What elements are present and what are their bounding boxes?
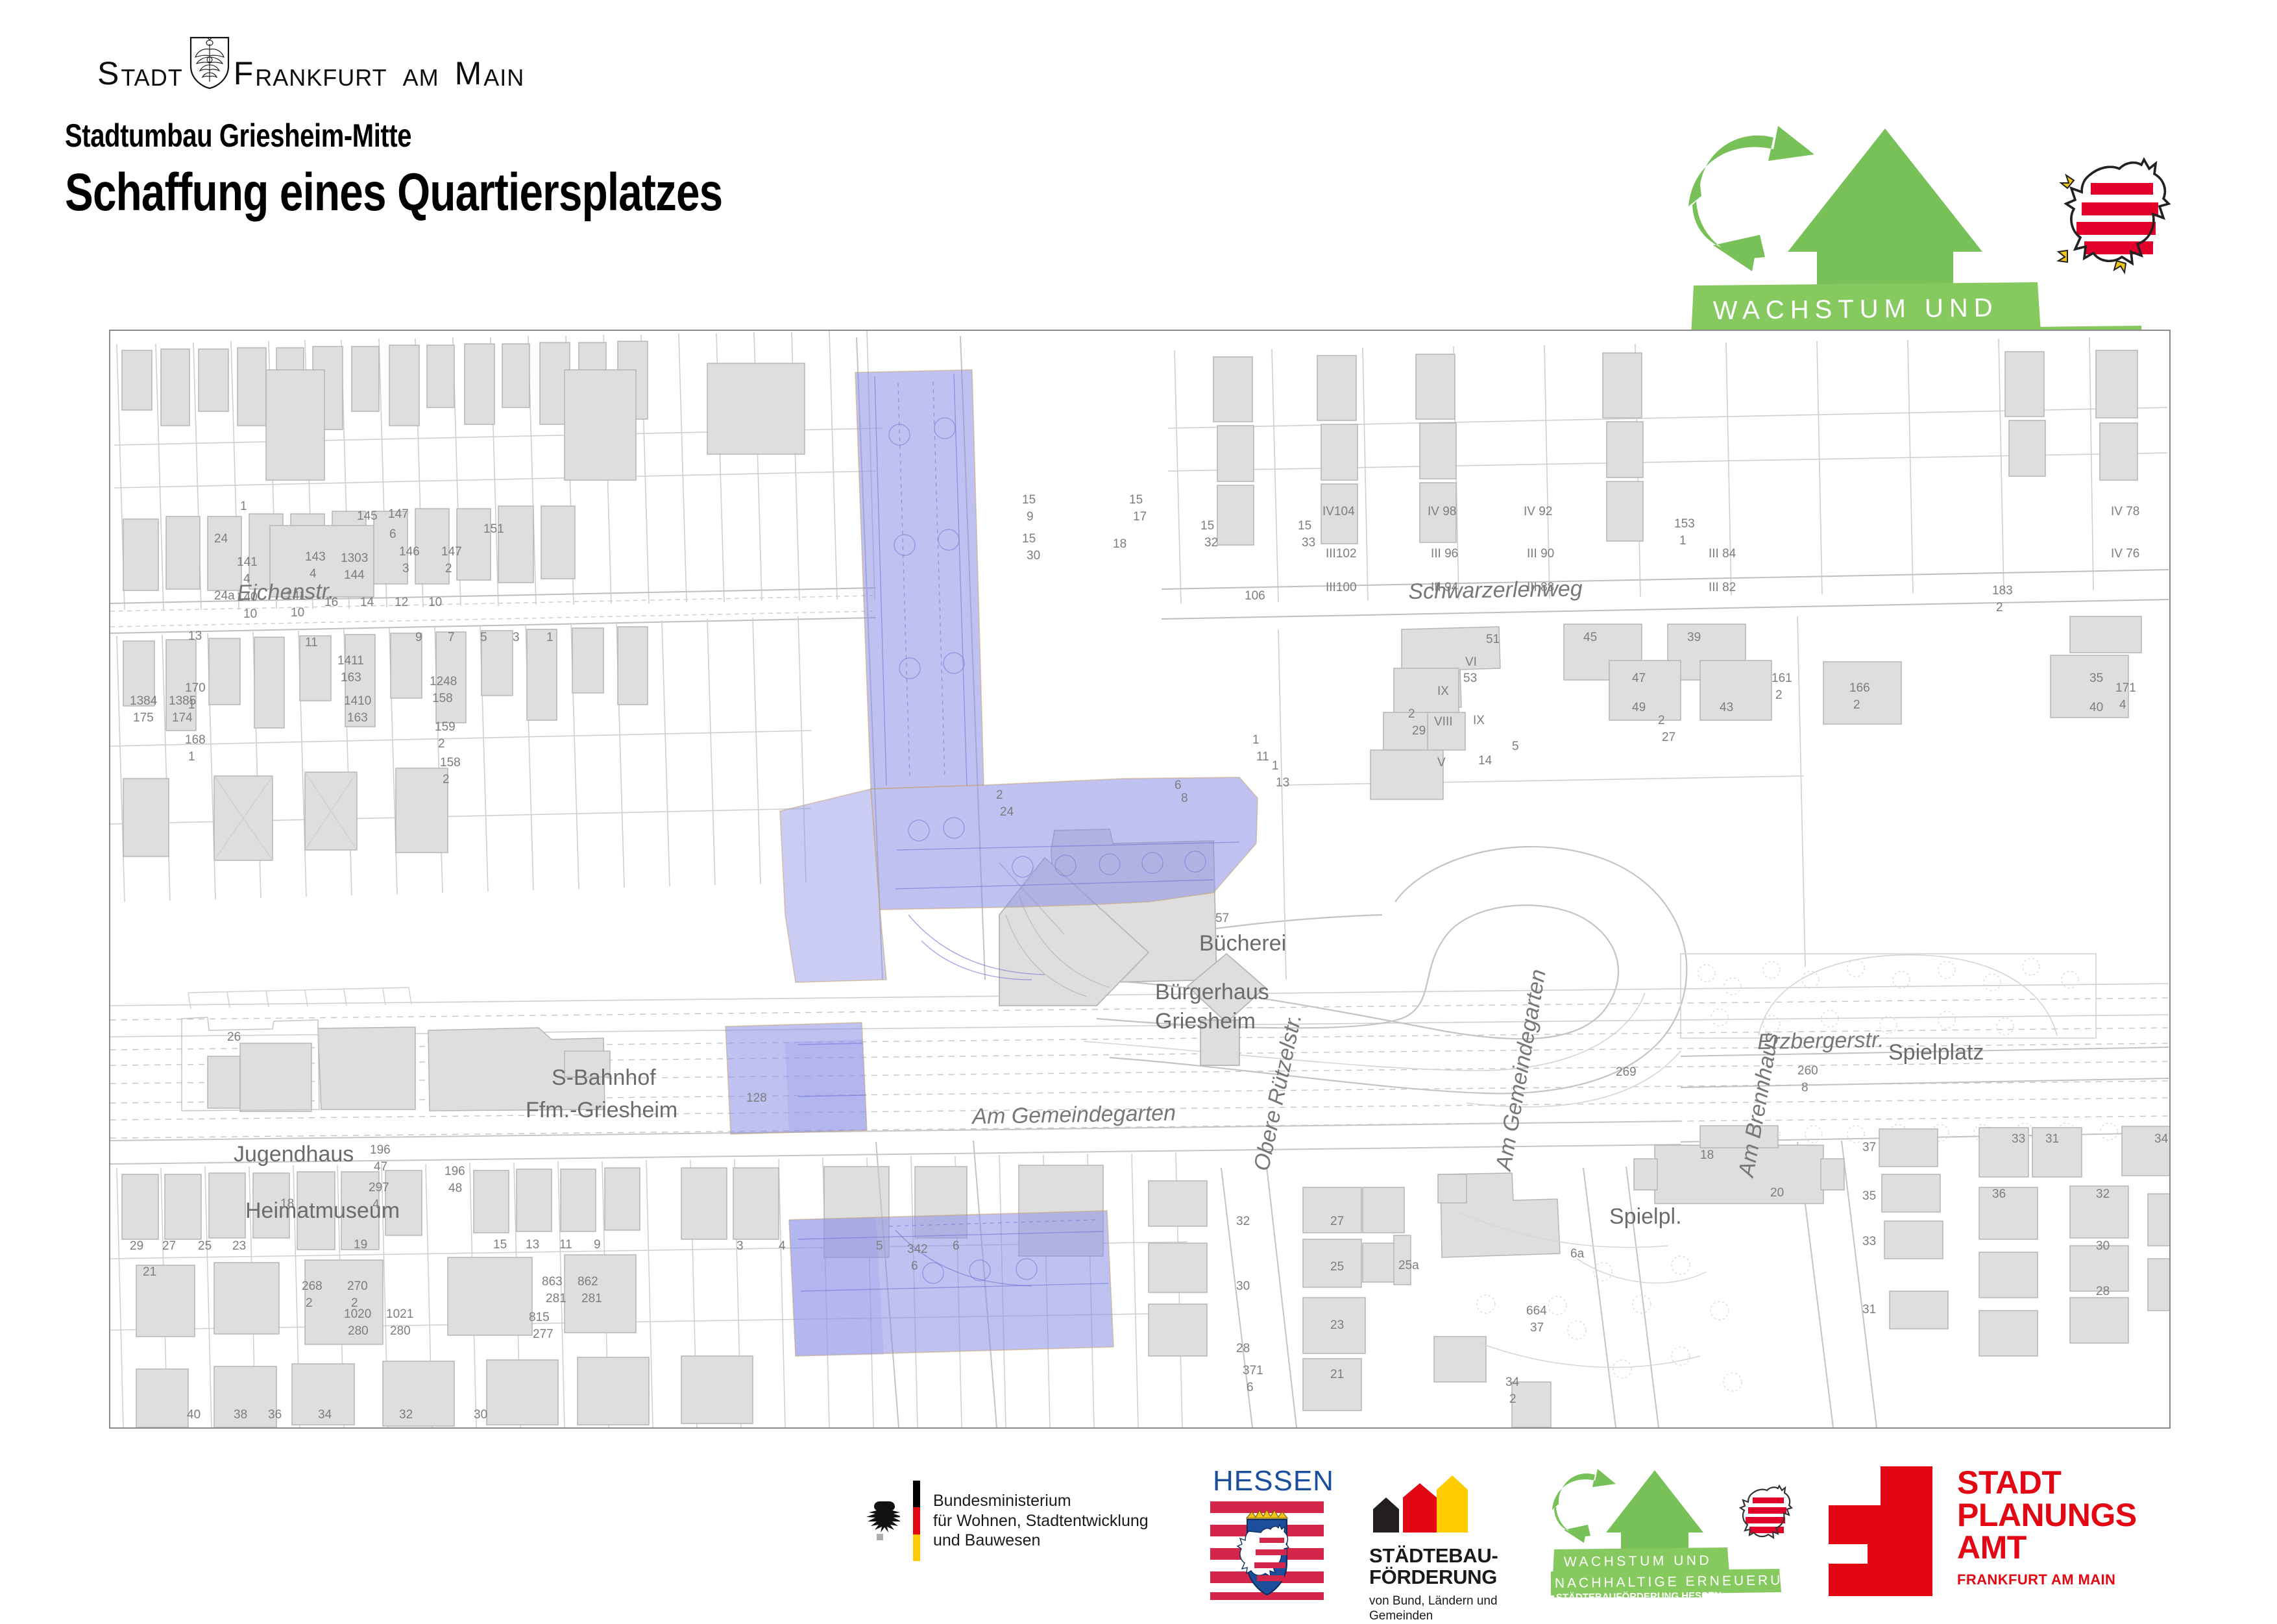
parcel-number: 28 (1236, 1342, 1250, 1356)
parcel-number: 141 (237, 555, 258, 570)
parcel-number: 342 (907, 1242, 928, 1257)
city-logo-word-frankfurt: RANKFURT (255, 66, 387, 90)
parcel-number: 863 (542, 1275, 563, 1289)
parcel-number: 20 (1770, 1186, 1784, 1200)
parcel-number: 34 (318, 1408, 332, 1422)
parcel-number: 37 (1862, 1141, 1876, 1155)
parcel-number: 11 (305, 636, 318, 650)
parcel-number: III 82 (1709, 581, 1736, 595)
three-houses-icon (1369, 1473, 1468, 1533)
city-logo-word-main: AIN (483, 66, 524, 90)
parcel-number: 9 (594, 1238, 601, 1252)
wne-footer-graphic: WACHSTUM UND NACHHALTIGE ERNEUERUNG STÄD… (1551, 1468, 1810, 1597)
parcel-number: 26 (227, 1030, 241, 1045)
parcel-number: 10 (243, 607, 257, 622)
parcel-number: 151 (483, 522, 504, 537)
city-logo-word-am: AM (403, 66, 439, 90)
parcel-number: 33 (1862, 1235, 1876, 1249)
parcel-number: 8 (1801, 1081, 1808, 1095)
parcel-number: 9 (1027, 510, 1034, 524)
parcel-number: 17 (1133, 510, 1147, 524)
parcel-number: 25a (1398, 1259, 1419, 1273)
parcel-number: 196 (444, 1165, 465, 1179)
hessen-lion-icon (2058, 160, 2169, 273)
frankfurt-eagle-crest-icon (189, 36, 230, 90)
parcel-number: III102 (1326, 547, 1357, 561)
parcel-number: 18 (280, 1197, 294, 1211)
parcel-number: 15 (493, 1238, 507, 1252)
parcel-number: 31 (1862, 1303, 1876, 1317)
parcel-number: 57 (1215, 912, 1229, 926)
parcel-number: 196 (370, 1143, 391, 1157)
parcel-number: 141 (286, 589, 306, 603)
parcel-number: 1020 (344, 1307, 371, 1322)
parcel-number: 27 (1330, 1215, 1344, 1229)
city-logo-word-main-m: M (455, 57, 483, 90)
parcel-number: 5 (1512, 740, 1519, 754)
parcel-number: IV 92 (1524, 505, 1552, 519)
parcel-number: 260 (1797, 1064, 1818, 1078)
parcel-number: 1 (240, 500, 247, 514)
parcel-number: 175 (133, 711, 154, 725)
bmwsb-text: Bundesministerium für Wohnen, Stadtentwi… (933, 1491, 1149, 1551)
parcel-number: 174 (172, 711, 193, 725)
title-block: Stadtumbau Griesheim-Mitte Schaffung ein… (65, 117, 887, 223)
parcel-number: 158 (440, 756, 461, 770)
parcel-number: 34 (1505, 1376, 1519, 1390)
parcel-number: 32 (2096, 1187, 2110, 1202)
parcel-number: IX (1437, 685, 1449, 699)
svg-text:STÄDTEBAUFÖRDERUNG HESSEN: STÄDTEBAUFÖRDERUNG HESSEN (1556, 1590, 1722, 1597)
parcel-number: 40 (2089, 701, 2103, 715)
parcel-number: 1 (1252, 733, 1260, 747)
parcel-number: 166 (1849, 681, 1870, 696)
bundesadler-icon (860, 1497, 900, 1544)
parcel-number: 128 (746, 1091, 767, 1106)
parcel-number: 183 (1992, 584, 2013, 598)
parcel-number: 1248 (430, 675, 457, 689)
parcel-number: 11 (1256, 750, 1269, 764)
parcel-number: 2 (443, 773, 450, 787)
stf-sub2: Gemeinden (1369, 1609, 1498, 1624)
hessen-lion-small-icon (1740, 1486, 1792, 1538)
parcel-number: 27 (1662, 731, 1675, 745)
parcel-number: 1303 (341, 551, 368, 566)
parcel-number: 1 (1679, 534, 1686, 548)
city-logo: S TADT F RANKFURT AM M AIN (97, 31, 524, 90)
parcel-number: 4 (372, 1198, 380, 1212)
spa-sub: FRANKFURT AM MAIN (1957, 1571, 2137, 1588)
parcel-number: 2 (1996, 601, 2003, 615)
parcel-number: 281 (546, 1292, 566, 1306)
parcel-number: 13 (526, 1238, 539, 1252)
parcel-number: 43 (1720, 701, 1733, 715)
parcel-number: 163 (341, 671, 361, 685)
parcel-number: 28 (2096, 1285, 2110, 1299)
parcel-number: 10 (291, 606, 304, 620)
parcel-number: 9 (415, 631, 422, 645)
parcel-number: 37 (1530, 1321, 1544, 1335)
parcel-number: 4 (243, 572, 250, 587)
parcel-number: 862 (578, 1275, 598, 1289)
parcel-number: 297 (369, 1181, 389, 1195)
logo-wne-footer: WACHSTUM UND NACHHALTIGE ERNEUERUNG STÄD… (1551, 1468, 1810, 1601)
parcel-number: 53 (1463, 672, 1477, 686)
parcel-number: 1 (188, 750, 195, 764)
parcel-number: 1410 (344, 694, 371, 709)
parcel-number: 19 (354, 1238, 367, 1252)
parcel-number: 4 (310, 567, 317, 581)
spa-red-mark-icon (1829, 1466, 1932, 1596)
parcel-number: IX (1473, 714, 1485, 728)
parcel-number: 47 (1632, 672, 1646, 686)
parcel-number: VI (1465, 655, 1477, 670)
parcel-number: 30 (474, 1408, 487, 1422)
parcel-number: 6 (911, 1259, 918, 1274)
parcel-number: 13 (188, 629, 202, 644)
parcel-number: 143 (305, 550, 326, 564)
parcel-number: 1 (1272, 759, 1279, 773)
parcel-number: 27 (162, 1239, 176, 1254)
parcel-number: 7 (448, 631, 455, 645)
logo-hessen: HESSEN (1210, 1465, 1334, 1603)
parcel-number: 16 (324, 596, 338, 610)
parcel-number: 4 (2119, 698, 2126, 712)
parcel-number: 2 (306, 1296, 313, 1311)
parcel-number: 1384 (130, 694, 157, 709)
parcel-number: 23 (1330, 1318, 1344, 1333)
parcel-number: 40 (187, 1408, 201, 1422)
parcel-number: 15 (1200, 519, 1214, 533)
parcel-number: 33 (2012, 1132, 2025, 1146)
parcel-number: 23 (232, 1239, 246, 1254)
parcel-number: 3 (402, 562, 409, 576)
parcel-number: 280 (390, 1324, 411, 1339)
parcel-number: 2 (438, 737, 445, 751)
parcel-number: 6 (1247, 1381, 1254, 1395)
parcel-number: 106 (1245, 589, 1265, 603)
parcel-number: 277 (533, 1327, 554, 1342)
parcel-number: 168 (185, 733, 206, 747)
logo-staedtebaufoerderung: STÄDTEBAU- FÖRDERUNG von Bund, Ländern u… (1369, 1473, 1498, 1624)
parcel-number: 13 (1276, 776, 1289, 790)
parcel-number: 8 (1181, 792, 1188, 806)
stf-sub1: von Bund, Ländern und (1369, 1594, 1498, 1609)
parcel-number: 163 (347, 711, 368, 725)
hessen-lion-shield-icon (1210, 1501, 1324, 1600)
parcel-number: 2 (1509, 1392, 1516, 1407)
bmwsb-line2: für Wohnen, Stadtentwicklung (933, 1511, 1149, 1531)
parcel-number: 269 (1616, 1065, 1637, 1080)
spa-line1: STADT (1957, 1466, 2137, 1499)
parcel-number: 6 (1175, 779, 1182, 793)
parcel-number: 5 (876, 1239, 883, 1254)
parcel-number: 33 (1302, 536, 1315, 550)
parcel-number: 48 (448, 1182, 462, 1196)
parcel-number: 38 (234, 1408, 247, 1422)
parcel-number: 2 (1853, 698, 1860, 712)
parcel-number: III 96 (1431, 547, 1458, 561)
parcel-number: IV 76 (2111, 547, 2139, 561)
city-logo-word-stadt: TADT (121, 66, 182, 90)
hessen-wordmark: HESSEN (1213, 1465, 1334, 1497)
parcel-number: 36 (1992, 1187, 2006, 1202)
parcel-number: 10 (428, 596, 442, 610)
parcel-number: 815 (529, 1311, 550, 1325)
parcel-number: 15 (1022, 493, 1036, 507)
bmwsb-line3: und Bauwesen (933, 1531, 1149, 1551)
parcel-number: 24 (214, 532, 228, 546)
svg-text:WACHSTUM UND: WACHSTUM UND (1564, 1553, 1712, 1569)
parcel-number: 664 (1526, 1304, 1547, 1318)
parcel-number: 170 (185, 681, 206, 696)
parcel-number: 30 (2096, 1239, 2110, 1254)
parcel-number: 18 (1113, 537, 1126, 551)
page-header: S TADT F RANKFURT AM M AIN (0, 0, 2277, 305)
parcel-number: III 84 (1709, 547, 1736, 561)
parcel-number: 161 (1772, 672, 1792, 686)
parcel-number: 5 (480, 631, 487, 645)
parcel-number: 159 (435, 720, 456, 734)
page-title: Schaffung eines Quartiersplatzes (65, 162, 722, 223)
parcel-number: 36 (268, 1408, 282, 1422)
parcel-number: 147 (388, 507, 409, 522)
parcel-number: 35 (2089, 672, 2103, 686)
parcel-number: IV 78 (2111, 505, 2139, 519)
parcel-number: 280 (348, 1324, 369, 1339)
parcel-number: III 88 (1527, 581, 1554, 595)
parcel-number: 268 (302, 1279, 323, 1294)
parcel-number: IV 98 (1428, 505, 1456, 519)
parcel-number: 25 (198, 1239, 212, 1254)
parcel-number: 4 (779, 1239, 786, 1254)
parcel-number: 15 (1298, 519, 1311, 533)
parcel-number: 2 (445, 562, 452, 576)
parcel-number: 2 (1775, 688, 1783, 703)
city-logo-word-frankfurt-f: F (234, 57, 254, 90)
parcel-number: 21 (143, 1265, 156, 1279)
site-plan-map[interactable]: Eichenstr.SchwarzerlenwegAm Gemeindegart… (109, 330, 2171, 1429)
parcel-number: 24 (1000, 805, 1014, 819)
parcel-number: 30 (1236, 1279, 1250, 1294)
svg-text:WACHSTUM UND: WACHSTUM UND (1713, 293, 1999, 325)
parcel-number: 1411 (337, 654, 364, 668)
stf-line2: FÖRDERUNG (1369, 1566, 1498, 1588)
parcel-number: 24a (214, 589, 235, 603)
parcel-number: 14 (360, 596, 374, 610)
bmwsb-line1: Bundesministerium (933, 1491, 1149, 1511)
parcel-number: 2 (1658, 714, 1665, 728)
spa-line2: PLANUNGS (1957, 1499, 2137, 1531)
parcel-number: 146 (399, 545, 420, 559)
parcel-number: 34 (2154, 1132, 2168, 1146)
parcel-number: IV104 (1322, 505, 1355, 519)
parcel-number: V (1437, 756, 1446, 770)
parcel-number: 30 (1027, 549, 1040, 563)
parcel-number: 6 (389, 527, 396, 542)
parcel-number: 29 (1412, 724, 1426, 738)
parcel-number: 29 (130, 1239, 143, 1254)
parcel-number: 1021 (386, 1307, 413, 1322)
parcel-number: 31 (2045, 1132, 2059, 1146)
parcel-number: 15 (1022, 532, 1036, 546)
parcel-number: 12 (395, 596, 408, 610)
parcel-number: 6 (953, 1239, 960, 1254)
city-logo-word-stadt-s: S (97, 57, 119, 90)
parcel-number: 2 (996, 788, 1003, 803)
parcel-number: 371 (1243, 1364, 1263, 1378)
parcel-number: 21 (1330, 1368, 1344, 1382)
parcel-number: 49 (1632, 701, 1646, 715)
parcel-number: 140 (237, 590, 258, 605)
spa-text: STADT PLANUNGS AMT FRANKFURT AM MAIN (1957, 1466, 2137, 1588)
parcel-number: 281 (581, 1292, 602, 1306)
parcel-number: 18 (1700, 1148, 1714, 1163)
parcel-number: 6a (1570, 1247, 1584, 1261)
parcel-number: 32 (1236, 1215, 1250, 1229)
parcel-number: 270 (347, 1279, 368, 1294)
parcel-number: 158 (432, 692, 453, 706)
parcel-number: 47 (374, 1160, 387, 1174)
parcel-number: 15 (1129, 493, 1143, 507)
parcel-number: 153 (1674, 517, 1695, 531)
parcel-number: 145 (357, 509, 378, 524)
parcel-number: 147 (441, 545, 462, 559)
parcel-number: 2 (1408, 707, 1415, 721)
project-kicker: Stadtumbau Griesheim-Mitte (65, 117, 722, 154)
parcel-number: III100 (1326, 581, 1357, 595)
parcel-number: III 94 (1431, 581, 1458, 595)
parcel-number: VIII (1434, 715, 1453, 729)
parcel-number: 14 (1478, 754, 1492, 768)
parcel-number: 32 (399, 1408, 413, 1422)
parcel-number: 144 (344, 568, 365, 583)
parcel-number: 11 (559, 1238, 572, 1252)
parcel-number: 3 (737, 1239, 744, 1254)
parcel-number: 171 (2115, 681, 2136, 696)
page-footer: Bundesministerium für Wohnen, Stadtentwi… (0, 1453, 2277, 1609)
parcel-number: 39 (1687, 631, 1701, 645)
logo-bmwsb: Bundesministerium für Wohnen, Stadtentwi… (860, 1481, 1149, 1561)
parcel-number: 1385 (169, 694, 196, 709)
stf-line1: STÄDTEBAU- (1369, 1545, 1498, 1566)
spa-line3: AMT (1957, 1531, 2137, 1564)
parcel-number: 45 (1583, 631, 1597, 645)
parcel-number: 1 (546, 631, 554, 645)
parcel-number: 32 (1204, 536, 1218, 550)
parcel-number: 35 (1862, 1189, 1876, 1204)
logo-stadtplanungsamt: STADT PLANUNGS AMT FRANKFURT AM MAIN (1829, 1466, 2137, 1596)
parcel-number: 3 (513, 631, 520, 645)
parcel-number: III 90 (1527, 547, 1554, 561)
parcel-number: 25 (1330, 1260, 1344, 1274)
parcel-number: 51 (1486, 633, 1500, 647)
german-flag-bar (913, 1481, 920, 1561)
